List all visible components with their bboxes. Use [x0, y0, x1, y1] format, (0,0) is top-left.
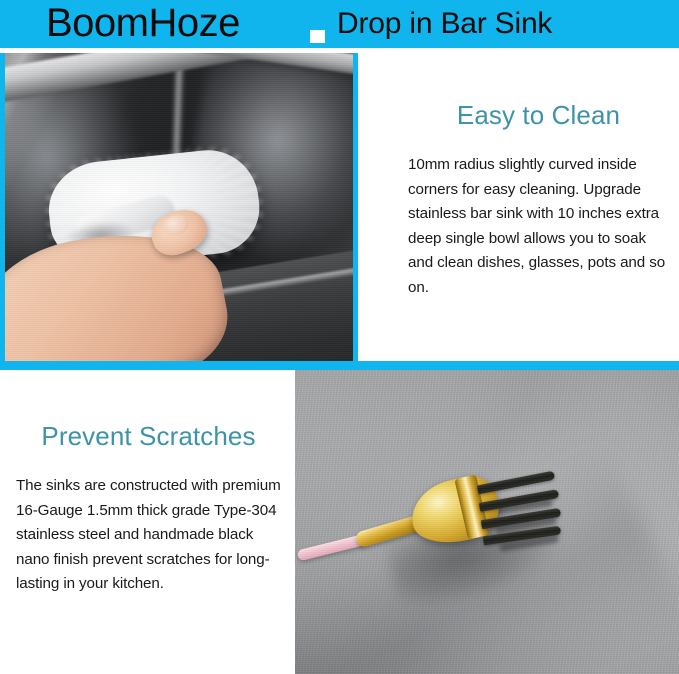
easy-to-clean-heading: Easy to Clean — [408, 101, 669, 131]
sink-cleaning-photo-canvas — [5, 53, 353, 361]
product-infographic-page: BoomHoze Drop in Bar Sink — [0, 0, 679, 674]
section-prevent-scratches: Prevent Scratches The sinks are construc… — [0, 370, 679, 674]
fork-on-steel-photo — [295, 370, 679, 674]
section-easy-to-clean: Easy to Clean 10mm radius slightly curve… — [0, 53, 679, 361]
prevent-scratches-body: The sinks are constructed with premium 1… — [16, 474, 281, 597]
white-square-separator-icon — [310, 30, 325, 43]
header-banner: BoomHoze Drop in Bar Sink — [0, 0, 679, 48]
prevent-scratches-heading: Prevent Scratches — [16, 422, 281, 452]
brand-name: BoomHoze — [46, 3, 240, 43]
easy-to-clean-body: 10mm radius slightly curved inside corne… — [408, 153, 669, 301]
header-subtitle: Drop in Bar Sink — [337, 9, 552, 39]
easy-to-clean-text-block: Easy to Clean 10mm radius slightly curve… — [396, 53, 679, 361]
blue-horizontal-divider — [0, 361, 679, 370]
prevent-scratches-text-block: Prevent Scratches The sinks are construc… — [0, 370, 295, 674]
sink-cleaning-photo — [0, 53, 358, 361]
